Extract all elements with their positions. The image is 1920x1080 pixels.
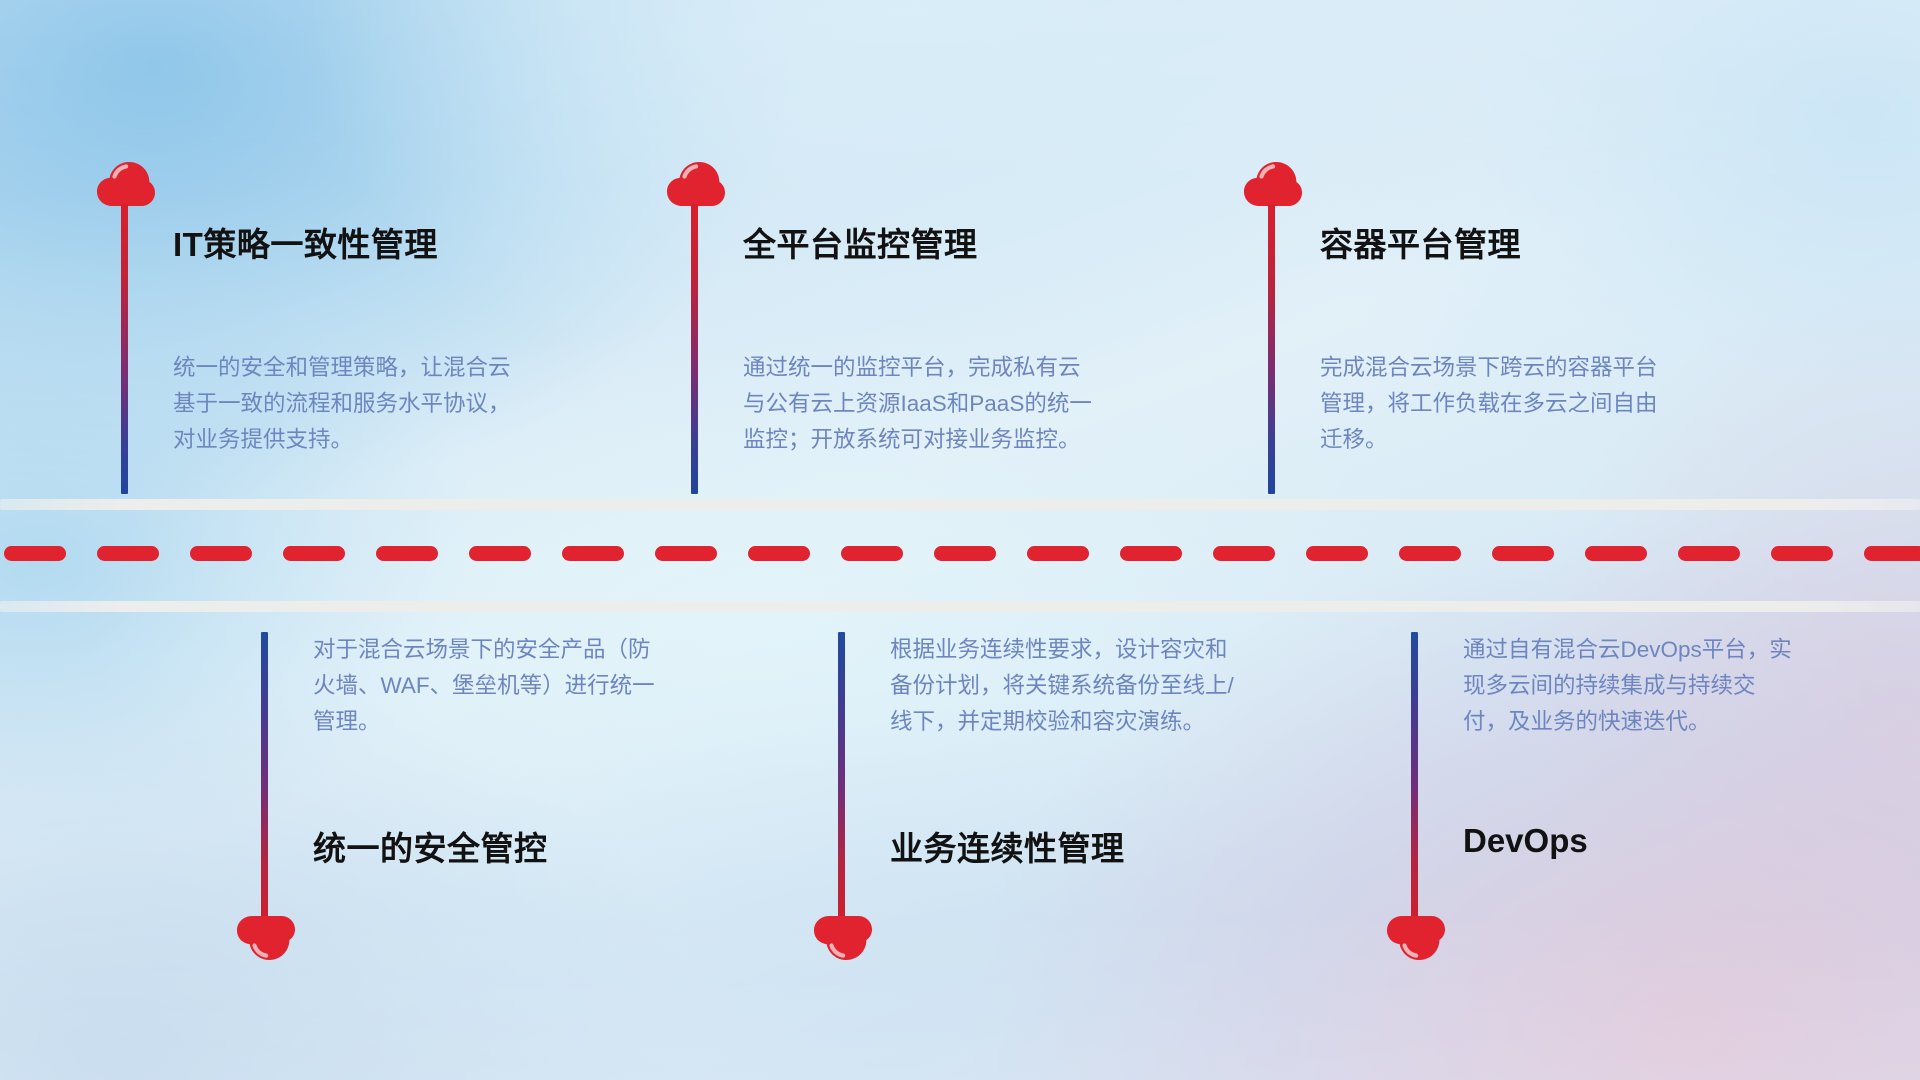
feature-title: IT策略一致性管理: [173, 218, 438, 266]
connector-line: [691, 204, 698, 494]
feature-title: 容器平台管理: [1320, 218, 1521, 266]
cloud-icon: [1385, 914, 1447, 962]
road-dash: [283, 546, 345, 561]
cloud-icon: [665, 160, 727, 208]
feature-description: 根据业务连续性要求，设计容灾和备份计划，将关键系统备份至线上/线下，并定期校验和…: [890, 632, 1242, 740]
road-dash: [1306, 546, 1368, 561]
road-dash: [1213, 546, 1275, 561]
cloud-icon: [1242, 160, 1304, 208]
road-dash: [376, 546, 438, 561]
feature-description: 对于混合云场景下的安全产品（防火墙、WAF、堡垒机等）进行统一管理。: [313, 632, 665, 740]
road-dash: [655, 546, 717, 561]
connector-line: [1411, 632, 1418, 922]
road-dashed-line: [0, 545, 1920, 561]
road-dash: [1399, 546, 1461, 561]
feature-description: 通过统一的监控平台，完成私有云与公有云上资源IaaS和PaaS的统一监控；开放系…: [743, 350, 1095, 458]
road-dash: [1678, 546, 1740, 561]
connector-line: [1268, 204, 1275, 494]
cloud-icon: [95, 160, 157, 208]
road-dash: [1492, 546, 1554, 561]
feature-title: 业务连续性管理: [890, 822, 1125, 870]
cloud-icon: [812, 914, 874, 962]
road-dash: [841, 546, 903, 561]
road-dash: [1585, 546, 1647, 561]
road-dash: [469, 546, 531, 561]
road-dash: [934, 546, 996, 561]
feature-title: 统一的安全管控: [313, 822, 548, 870]
cloud-icon: [235, 914, 297, 962]
road-dash: [190, 546, 252, 561]
road-dash: [97, 546, 159, 561]
road-dash: [4, 546, 66, 561]
road-dash: [1771, 546, 1833, 561]
road-dash: [1120, 546, 1182, 561]
road-dash: [1027, 546, 1089, 561]
feature-title: DevOps: [1463, 822, 1588, 860]
feature-description: 统一的安全和管理策略，让混合云基于一致的流程和服务水平协议，对业务提供支持。: [173, 350, 523, 458]
road-rail-top: [0, 499, 1920, 510]
road-dash: [748, 546, 810, 561]
road-dash: [562, 546, 624, 561]
infographic-canvas: IT策略一致性管理 统一的安全和管理策略，让混合云基于一致的流程和服务水平协议，…: [0, 0, 1920, 1080]
connector-line: [838, 632, 845, 922]
connector-line: [121, 204, 128, 494]
connector-line: [261, 632, 268, 922]
road-dash: [1864, 546, 1920, 561]
feature-title: 全平台监控管理: [743, 218, 978, 266]
road-rail-bottom: [0, 601, 1920, 612]
feature-description: 通过自有混合云DevOps平台，实现多云间的持续集成与持续交付，及业务的快速迭代…: [1463, 632, 1793, 740]
feature-description: 完成混合云场景下跨云的容器平台管理，将工作负载在多云之间自由迁移。: [1320, 350, 1672, 458]
